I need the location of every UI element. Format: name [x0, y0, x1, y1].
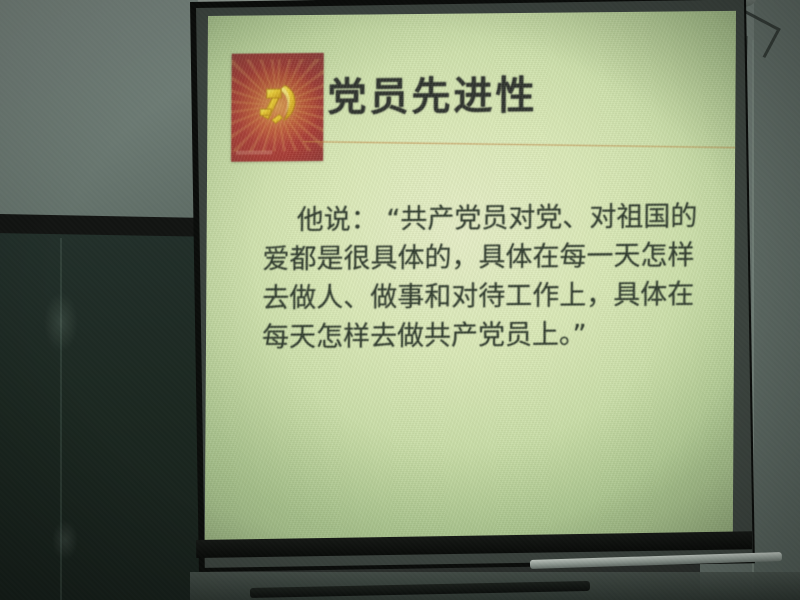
projected-slide: 党员先进性 他说： “共产党员对党、对祖国的 爱都是很具体的，具体在每一天怎样 …	[205, 11, 736, 541]
classroom-wall-left	[0, 0, 206, 228]
body-line: 每天怎样去做共产党员上。”	[262, 314, 702, 357]
slide-body-text: 他说： “共产党员对党、对祖国的 爱都是很具体的，具体在每一天怎样 去做人、做事…	[262, 197, 703, 357]
emblem-watermark	[236, 150, 272, 154]
title-divider-rule	[303, 141, 736, 148]
body-line: 他说： “共产党员对党、对祖国的	[263, 197, 703, 240]
photo-scene: 党员先进性 他说： “共产党员对党、对祖国的 爱都是很具体的，具体在每一天怎样 …	[0, 0, 800, 600]
classroom-wall-far-right	[754, 0, 800, 600]
body-line: 爱都是很具体的，具体在每一天怎样	[262, 236, 702, 279]
party-emblem-image	[231, 53, 324, 162]
body-line: 去做人、做事和对待工作上，具体在	[262, 275, 702, 318]
blackboard-seam	[60, 238, 62, 600]
blackboard	[0, 233, 210, 600]
slide-title: 党员先进性	[327, 65, 537, 123]
hammer-and-sickle-icon	[248, 76, 306, 135]
slide-content: 党员先进性 他说： “共产党员对党、对祖国的 爱都是很具体的，具体在每一天怎样 …	[205, 11, 736, 541]
